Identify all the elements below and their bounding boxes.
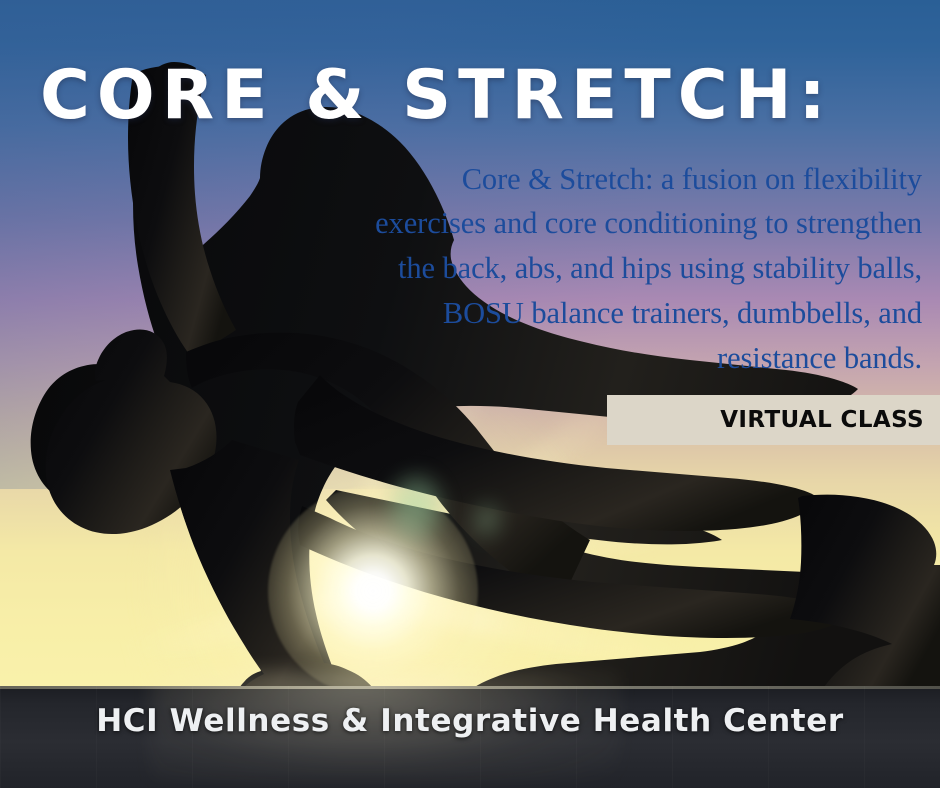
virtual-class-badge: VIRTUAL CLASS xyxy=(607,395,940,445)
class-description-line: BOSU balance trainers, dumbbells, and xyxy=(443,296,922,330)
class-description-line: Core & Stretch: a fusion on flexibility xyxy=(462,162,922,196)
class-description: Core & Stretch: a fusion on flexibilitye… xyxy=(258,157,922,381)
ground-horizon-seam xyxy=(0,686,940,689)
page-title: CORE & STRETCH: xyxy=(40,62,930,130)
organization-name: HCI Wellness & Integrative Health Center xyxy=(0,703,940,739)
class-description-line: exercises and core conditioning to stren… xyxy=(375,206,922,240)
badge-label: VIRTUAL CLASS xyxy=(720,407,924,433)
class-description-line: the back, abs, and hips using stability … xyxy=(398,251,922,285)
class-description-line: resistance bands. xyxy=(717,341,922,375)
class-promo-poster: CORE & STRETCH: Core & Stretch: a fusion… xyxy=(0,0,940,788)
